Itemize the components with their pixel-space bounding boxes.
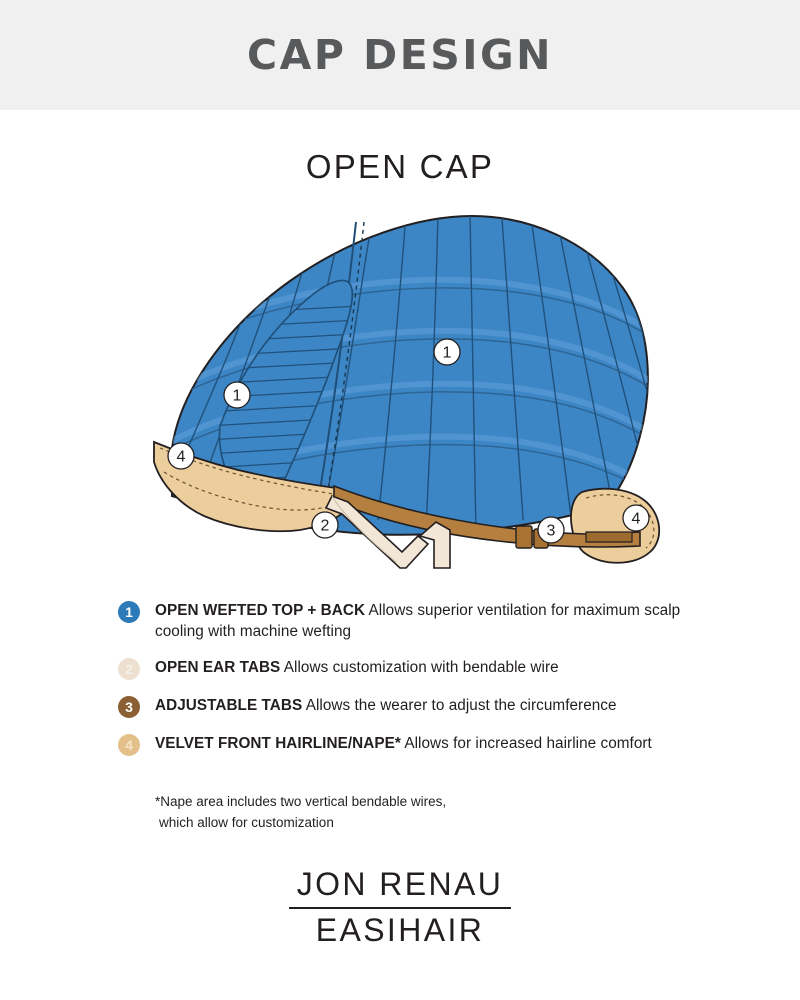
brand-name-secondary: EASIHAIR (0, 912, 800, 950)
svg-text:2: 2 (321, 518, 330, 535)
legend-list: 1 OPEN WEFTED TOP + BACK Allows superior… (118, 600, 698, 756)
svg-text:1: 1 (233, 388, 242, 405)
page-title: CAP DESIGN (247, 35, 553, 76)
cap-design-page: CAP DESIGN OPEN CAP (0, 0, 800, 1000)
legend-description-3: Allows the wearer to adjust the circumfe… (306, 697, 617, 714)
legend-badge-4: 4 (118, 734, 140, 756)
legend-text-3: ADJUSTABLE TABS Allows the wearer to adj… (155, 695, 617, 716)
footnote: *Nape area includes two vertical bendabl… (155, 792, 655, 833)
marker-4-front: 4 (168, 443, 194, 469)
marker-1-top: 1 (434, 339, 460, 365)
footnote-line-2: which allow for customization (155, 813, 655, 834)
legend-term-1: OPEN WEFTED TOP + BACK (155, 602, 365, 619)
svg-text:1: 1 (443, 345, 452, 362)
legend-item-2: 2 OPEN EAR TABS Allows customization wit… (118, 657, 698, 680)
legend-text-2: OPEN EAR TABS Allows customization with … (155, 657, 559, 678)
legend-text-4: VELVET FRONT HAIRLINE/NAPE* Allows for i… (155, 733, 652, 754)
legend-badge-2: 2 (118, 658, 140, 680)
marker-4-nape: 4 (623, 505, 649, 531)
legend-description-2: Allows customization with bendable wire (284, 659, 559, 676)
brand-divider (289, 907, 511, 909)
legend-item-4: 4 VELVET FRONT HAIRLINE/NAPE* Allows for… (118, 733, 698, 756)
svg-text:4: 4 (632, 511, 641, 528)
legend-text-1: OPEN WEFTED TOP + BACK Allows superior v… (155, 600, 698, 642)
footnote-line-1: *Nape area includes two vertical bendabl… (155, 794, 446, 809)
section-subtitle: OPEN CAP (0, 148, 800, 186)
open-cap-illustration: 1 1 4 2 3 (120, 196, 690, 588)
marker-3-strap: 3 (538, 517, 564, 543)
legend-item-1: 1 OPEN WEFTED TOP + BACK Allows superior… (118, 600, 698, 642)
brand-name-primary: JON RENAU (0, 866, 800, 904)
marker-2-ear-tab: 2 (312, 512, 338, 538)
legend-term-2: OPEN EAR TABS (155, 659, 280, 676)
legend-item-3: 3 ADJUSTABLE TABS Allows the wearer to a… (118, 695, 698, 718)
svg-text:3: 3 (547, 523, 556, 540)
legend-term-4: VELVET FRONT HAIRLINE/NAPE* (155, 735, 401, 752)
legend-description-4: Allows for increased hairline comfort (404, 735, 652, 752)
legend-badge-1: 1 (118, 601, 140, 623)
marker-1-front: 1 (224, 382, 250, 408)
brand-logo: JON RENAU EASIHAIR (0, 866, 800, 950)
legend-term-3: ADJUSTABLE TABS (155, 697, 302, 714)
legend-badge-3: 3 (118, 696, 140, 718)
svg-text:4: 4 (177, 449, 186, 466)
header-band: CAP DESIGN (0, 0, 800, 110)
